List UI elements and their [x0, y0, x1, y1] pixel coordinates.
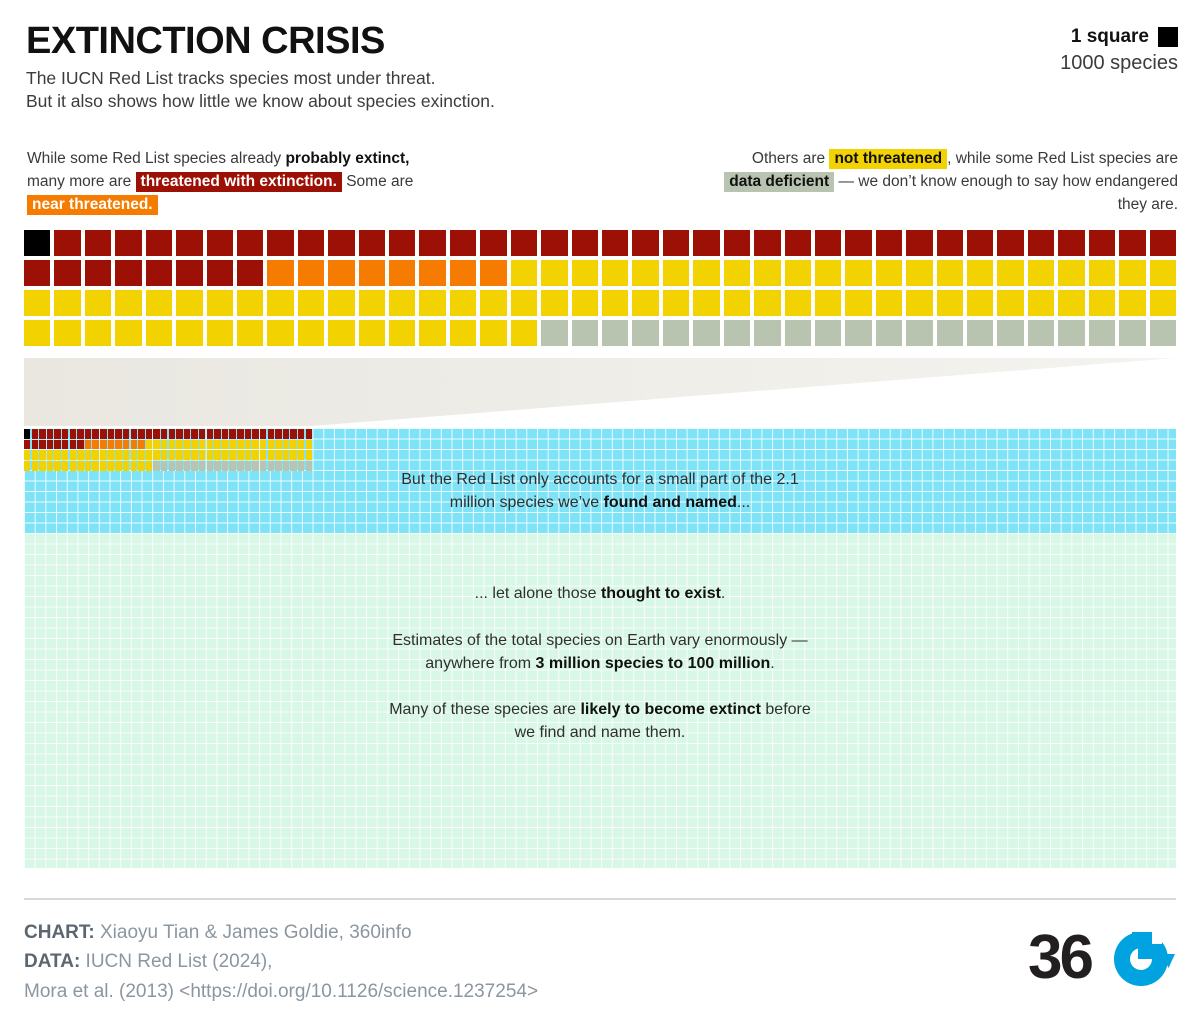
- waffle-cell: [1150, 290, 1176, 316]
- waffle-cell: [480, 290, 506, 316]
- waffle-cell: [389, 230, 415, 256]
- waffle-cell: [24, 230, 50, 256]
- waffle-cell: [62, 440, 68, 450]
- waffle-cell: [115, 260, 141, 286]
- waffle-cell: [876, 320, 902, 346]
- waffle-cell: [252, 450, 258, 460]
- waffle-cell: [937, 290, 963, 316]
- waffle-cell: [115, 290, 141, 316]
- waffle-cell: [785, 320, 811, 346]
- waffle-cell: [85, 260, 111, 286]
- waffle-cell: [906, 260, 932, 286]
- caption-right-seg3: , while some Red List species are: [947, 150, 1178, 167]
- panel-exist-p2-line2c: .: [770, 655, 774, 672]
- waffle-cell: [328, 230, 354, 256]
- waffle-cell: [845, 230, 871, 256]
- waffle-cell: [632, 260, 658, 286]
- waffle-cell: [268, 429, 274, 439]
- waffle-cell: [199, 440, 205, 450]
- waffle-cell: [176, 290, 202, 316]
- waffle-cell: [359, 290, 385, 316]
- waffle-cell: [191, 450, 197, 460]
- waffle-cell: [268, 461, 274, 471]
- waffle-cell: [724, 290, 750, 316]
- waffle-cell: [85, 320, 111, 346]
- waffle-cell: [845, 320, 871, 346]
- waffle-cell: [85, 290, 111, 316]
- waffle-cell: [252, 429, 258, 439]
- waffle-cell: [24, 260, 50, 286]
- waffle-cell: [298, 461, 304, 471]
- waffle-cell: [693, 320, 719, 346]
- waffle-cell: [450, 230, 476, 256]
- waffle-cell: [138, 429, 144, 439]
- waffle-cell: [32, 450, 38, 460]
- waffle-cell: [290, 461, 296, 471]
- waffle-cell: [450, 290, 476, 316]
- footer-data-label: DATA:: [24, 951, 80, 972]
- waffle-cell: [359, 260, 385, 286]
- waffle-cell: [54, 450, 60, 460]
- waffle-cell: [541, 230, 567, 256]
- waffle-cell: [785, 230, 811, 256]
- waffle-cell: [602, 290, 628, 316]
- waffle-cell: [115, 230, 141, 256]
- waffle-cell: [39, 450, 45, 460]
- caption-right-seg5: — we don’t know enough to say how endang…: [834, 173, 1178, 190]
- waffle-cell: [306, 450, 312, 460]
- waffle-cell: [214, 429, 220, 439]
- waffle-cell: [39, 440, 45, 450]
- waffle-cell: [47, 429, 53, 439]
- waffle-cell: [123, 450, 129, 460]
- waffle-cell: [222, 440, 228, 450]
- waffle-cell: [275, 450, 281, 460]
- waffle-chart-main: [24, 230, 1176, 346]
- waffle-cell: [39, 461, 45, 471]
- footer-divider: [24, 898, 1176, 900]
- panel-exist-paragraph-3: Many of these species are likely to beco…: [24, 698, 1176, 744]
- waffle-cell: [298, 320, 324, 346]
- caption-left-seg3: many more are: [27, 173, 136, 190]
- waffle-cell: [298, 290, 324, 316]
- waffle-cell: [1058, 290, 1084, 316]
- waffle-cell: [1028, 230, 1054, 256]
- waffle-cell: [54, 290, 80, 316]
- waffle-cell: [70, 429, 76, 439]
- waffle-cell: [328, 290, 354, 316]
- waffle-cell: [24, 290, 50, 316]
- waffle-cell: [176, 450, 182, 460]
- waffle-cell: [290, 450, 296, 460]
- waffle-cell: [693, 260, 719, 286]
- panel-named-line2a: million species we’ve: [450, 494, 604, 511]
- 360info-logo-icon: 36: [1028, 928, 1178, 992]
- waffle-cell: [207, 290, 233, 316]
- waffle-cell: [169, 450, 175, 460]
- waffle-cell: [115, 320, 141, 346]
- waffle-cell: [389, 320, 415, 346]
- waffle-cell: [283, 429, 289, 439]
- waffle-cell: [937, 230, 963, 256]
- waffle-cell: [207, 461, 213, 471]
- waffle-cell: [572, 290, 598, 316]
- waffle-cell: [1028, 290, 1054, 316]
- waffle-cell: [146, 440, 152, 450]
- waffle-cell: [85, 450, 91, 460]
- waffle-cell: [541, 260, 567, 286]
- waffle-cell: [754, 230, 780, 256]
- waffle-cell: [184, 440, 190, 450]
- waffle-cell: [906, 290, 932, 316]
- waffle-cell: [146, 320, 172, 346]
- waffle-cell: [245, 450, 251, 460]
- panel-exist-p3-bold: likely to become extinct: [580, 701, 761, 718]
- waffle-cell: [450, 320, 476, 346]
- waffle-cell: [54, 260, 80, 286]
- waffle-cell: [724, 320, 750, 346]
- waffle-cell: [663, 260, 689, 286]
- waffle-cell: [115, 450, 121, 460]
- caption-left-seg1: While some Red List species already: [27, 150, 285, 167]
- waffle-cell: [108, 461, 114, 471]
- waffle-cell: [290, 429, 296, 439]
- waffle-cell: [176, 440, 182, 450]
- waffle-cell: [937, 320, 963, 346]
- waffle-cell: [541, 290, 567, 316]
- waffle-cell: [511, 260, 537, 286]
- black-square-icon: [1158, 27, 1178, 47]
- waffle-cell: [1089, 230, 1115, 256]
- footer-chart-value: Xiaoyu Tian & James Goldie, 360info: [95, 922, 412, 943]
- waffle-cell: [153, 440, 159, 450]
- waffle-cell: [1028, 260, 1054, 286]
- caption-left-seg5: Some are: [342, 173, 414, 190]
- waffle-cell: [214, 461, 220, 471]
- waffle-cell: [92, 429, 98, 439]
- waffle-cell: [997, 290, 1023, 316]
- waffle-cell: [176, 230, 202, 256]
- waffle-cell: [54, 461, 60, 471]
- waffle-cell: [115, 440, 121, 450]
- waffle-cell: [252, 461, 258, 471]
- footer-data-line-2: Mora et al. (2013) <https://doi.org/10.1…: [24, 977, 824, 1006]
- waffle-cell: [1119, 230, 1145, 256]
- panel-named-line2c: ...: [737, 494, 750, 511]
- waffle-cell: [298, 429, 304, 439]
- waffle-cell: [845, 290, 871, 316]
- waffle-cell: [876, 260, 902, 286]
- waffle-cell: [260, 450, 266, 460]
- waffle-cell: [115, 461, 121, 471]
- waffle-cell: [785, 260, 811, 286]
- waffle-cell: [131, 450, 137, 460]
- waffle-cell: [176, 461, 182, 471]
- waffle-cell: [328, 260, 354, 286]
- waffle-cell: [207, 320, 233, 346]
- waffle-cell: [997, 260, 1023, 286]
- waffle-cell: [169, 429, 175, 439]
- caption-right-seg1: Others are: [752, 150, 830, 167]
- caption-left-near-threatened-badge: near threatened.: [27, 195, 158, 215]
- waffle-cell: [229, 429, 235, 439]
- waffle-cell: [906, 230, 932, 256]
- waffle-cell: [47, 461, 53, 471]
- waffle-cell: [115, 429, 121, 439]
- waffle-cell: [62, 429, 68, 439]
- waffle-cell: [184, 461, 190, 471]
- panel-exist-p1c: .: [721, 585, 725, 602]
- waffle-cell: [693, 290, 719, 316]
- waffle-cell: [260, 440, 266, 450]
- waffle-cell: [169, 461, 175, 471]
- waffle-cell: [298, 230, 324, 256]
- waffle-cell: [1089, 320, 1115, 346]
- waffle-cell: [572, 230, 598, 256]
- waffle-cell: [222, 461, 228, 471]
- waffle-cell: [260, 429, 266, 439]
- waffle-cell: [419, 290, 445, 316]
- waffle-cell: [602, 260, 628, 286]
- funnel-connector: [24, 358, 1176, 426]
- waffle-cell: [389, 260, 415, 286]
- waffle-cell: [229, 461, 235, 471]
- panel-exist-p1a: ... let alone those: [475, 585, 601, 602]
- waffle-cell: [123, 429, 129, 439]
- panel-exist-p3-line1c: before: [761, 701, 811, 718]
- waffle-cell: [161, 440, 167, 450]
- waffle-cell: [138, 440, 144, 450]
- panel-exist-p2-bold: 3 million species to 100 million: [536, 655, 771, 672]
- waffle-cell: [283, 461, 289, 471]
- waffle-cell: [275, 440, 281, 450]
- caption-left-probably-extinct: probably extinct,: [285, 150, 409, 167]
- waffle-cell: [85, 429, 91, 439]
- waffle-cell: [815, 260, 841, 286]
- waffle-cell: [298, 440, 304, 450]
- waffle-cell: [306, 461, 312, 471]
- waffle-cell: [245, 440, 251, 450]
- waffle-cell: [754, 260, 780, 286]
- waffle-cell: [131, 440, 137, 450]
- waffle-cell: [754, 320, 780, 346]
- waffle-cell: [123, 440, 129, 450]
- waffle-cell: [967, 290, 993, 316]
- waffle-cell: [176, 260, 202, 286]
- waffle-cell: [260, 461, 266, 471]
- waffle-cell: [359, 320, 385, 346]
- waffle-cell: [85, 461, 91, 471]
- waffle-cell: [252, 440, 258, 450]
- waffle-cell: [153, 461, 159, 471]
- waffle-cell: [815, 290, 841, 316]
- panel-exist-paragraph-2: Estimates of the total species on Earth …: [24, 629, 1176, 675]
- waffle-cell: [328, 320, 354, 346]
- panel-named-bold: found and named: [604, 494, 737, 511]
- panel-thought-to-exist: ... let alone those thought to exist. Es…: [24, 533, 1176, 868]
- panel-exist-p3-line1a: Many of these species are: [389, 701, 580, 718]
- waffle-cell: [207, 440, 213, 450]
- waffle-cell: [229, 450, 235, 460]
- waffle-cell: [199, 429, 205, 439]
- waffle-cell: [85, 230, 111, 256]
- waffle-cell: [815, 320, 841, 346]
- waffle-cell: [108, 429, 114, 439]
- waffle-cell: [184, 429, 190, 439]
- waffle-cell: [1150, 260, 1176, 286]
- waffle-cell: [207, 429, 213, 439]
- waffle-cell: [161, 461, 167, 471]
- legend: 1 square 1000 species: [1060, 26, 1178, 75]
- waffle-cell: [267, 320, 293, 346]
- waffle-cell: [146, 450, 152, 460]
- waffle-cell: [1058, 260, 1084, 286]
- waffle-cell: [85, 440, 91, 450]
- waffle-cell: [54, 230, 80, 256]
- waffle-cell: [511, 230, 537, 256]
- waffle-cell: [222, 450, 228, 460]
- subtitle-line-1: The IUCN Red List tracks species most un…: [26, 67, 1176, 90]
- waffle-cell: [191, 461, 197, 471]
- page-subtitle: The IUCN Red List tracks species most un…: [26, 67, 1176, 114]
- waffle-cell: [77, 440, 83, 450]
- waffle-cell: [131, 429, 137, 439]
- footer-chart-label: CHART:: [24, 922, 95, 943]
- waffle-cell: [632, 320, 658, 346]
- waffle-cell: [184, 450, 190, 460]
- legend-unit-row: 1 square: [1060, 26, 1178, 48]
- waffle-cell: [1119, 290, 1145, 316]
- caption-right-data-deficient-badge: data deficient: [724, 172, 834, 192]
- waffle-cell: [572, 260, 598, 286]
- waffle-cell: [572, 320, 598, 346]
- waffle-cell: [176, 320, 202, 346]
- page-title: EXTINCTION CRISIS: [26, 22, 1176, 60]
- waffle-cell: [724, 260, 750, 286]
- waffle-cell: [663, 290, 689, 316]
- waffle-cell: [754, 290, 780, 316]
- subtitle-line-2: But it also shows how little we know abo…: [26, 90, 1176, 113]
- waffle-cell: [161, 429, 167, 439]
- legend-unit-value: 1000 species: [1060, 52, 1178, 75]
- legend-unit-label: 1 square: [1071, 26, 1149, 48]
- waffle-cell: [419, 320, 445, 346]
- waffle-cell: [298, 260, 324, 286]
- waffle-cell: [222, 429, 228, 439]
- waffle-cell: [146, 260, 172, 286]
- waffle-cell: [54, 320, 80, 346]
- waffle-cell: [450, 260, 476, 286]
- waffle-cell: [245, 461, 251, 471]
- waffle-cell: [131, 461, 137, 471]
- waffle-cell: [237, 320, 263, 346]
- caption-right-seg6: they are.: [1118, 196, 1178, 213]
- waffle-cell: [207, 230, 233, 256]
- waffle-cell: [92, 450, 98, 460]
- waffle-cell: [237, 461, 243, 471]
- waffle-cell: [1150, 230, 1176, 256]
- waffle-cell: [191, 429, 197, 439]
- waffle-cell: [24, 320, 50, 346]
- waffle-cell: [845, 260, 871, 286]
- waffle-cell: [1028, 320, 1054, 346]
- waffle-cell: [199, 450, 205, 460]
- waffle-cell: [207, 260, 233, 286]
- waffle-cell: [268, 440, 274, 450]
- footer-data-line: DATA: IUCN Red List (2024),: [24, 947, 824, 976]
- waffle-cell: [906, 320, 932, 346]
- waffle-cell: [77, 450, 83, 460]
- waffle-cell: [24, 461, 30, 471]
- waffle-cell: [306, 429, 312, 439]
- waffle-cell: [389, 290, 415, 316]
- waffle-cell: [146, 461, 152, 471]
- waffle-cell: [1119, 320, 1145, 346]
- panel-exist-p2-line1: Estimates of the total species on Earth …: [392, 632, 807, 649]
- waffle-cell: [77, 461, 83, 471]
- waffle-cell: [214, 440, 220, 450]
- waffle-cell: [100, 440, 106, 450]
- waffle-cell: [161, 450, 167, 460]
- waffle-cell: [1058, 320, 1084, 346]
- panel-named-text: But the Red List only accounts for a sma…: [24, 468, 1176, 514]
- waffle-cell: [24, 450, 30, 460]
- caption-right-not-threatened-badge: not threatened: [829, 149, 947, 169]
- waffle-cell: [237, 429, 243, 439]
- waffle-cell: [191, 440, 197, 450]
- waffle-cell: [419, 260, 445, 286]
- waffle-cell: [876, 290, 902, 316]
- waffle-cell: [70, 461, 76, 471]
- waffle-cell: [419, 230, 445, 256]
- waffle-cell: [693, 230, 719, 256]
- waffle-cell: [967, 260, 993, 286]
- waffle-cell: [1150, 320, 1176, 346]
- header: EXTINCTION CRISIS The IUCN Red List trac…: [26, 22, 1176, 114]
- waffle-cell: [199, 461, 205, 471]
- caption-left: While some Red List species already prob…: [27, 148, 547, 217]
- waffle-cell: [480, 230, 506, 256]
- waffle-cell: [1089, 260, 1115, 286]
- waffle-cell: [92, 461, 98, 471]
- footer-credits: CHART: Xiaoyu Tian & James Goldie, 360in…: [24, 918, 824, 1006]
- waffle-cell: [70, 450, 76, 460]
- waffle-cell: [62, 461, 68, 471]
- waffle-cell: [237, 230, 263, 256]
- waffle-cell: [32, 440, 38, 450]
- waffle-cell: [108, 440, 114, 450]
- waffle-cell: [237, 450, 243, 460]
- waffle-chart-mini: [24, 429, 312, 471]
- waffle-cell: [724, 230, 750, 256]
- waffle-cell: [237, 440, 243, 450]
- waffle-cell: [47, 450, 53, 460]
- waffle-cell: [108, 450, 114, 460]
- waffle-cell: [138, 461, 144, 471]
- waffle-cell: [54, 429, 60, 439]
- waffle-cell: [785, 290, 811, 316]
- waffle-cell: [39, 429, 45, 439]
- waffle-cell: [146, 429, 152, 439]
- panel-exist-p3-line2: we find and name them.: [515, 724, 686, 741]
- footer-chart-line: CHART: Xiaoyu Tian & James Goldie, 360in…: [24, 918, 824, 947]
- waffle-cell: [47, 440, 53, 450]
- waffle-cell: [176, 429, 182, 439]
- waffle-cell: [480, 320, 506, 346]
- waffle-cell: [876, 230, 902, 256]
- waffle-cell: [1058, 230, 1084, 256]
- waffle-cell: [602, 320, 628, 346]
